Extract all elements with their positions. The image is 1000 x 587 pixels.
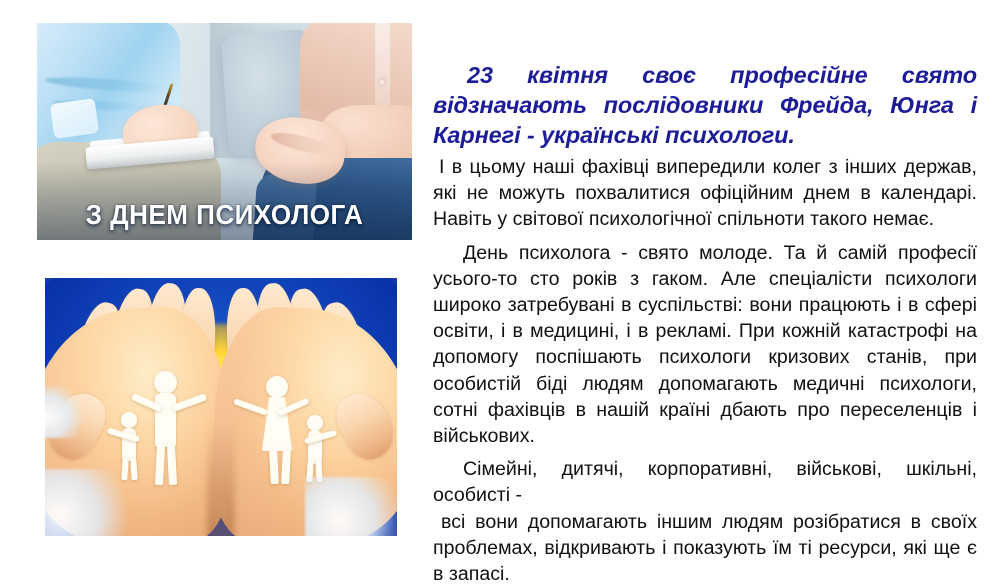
palms-center-shadow [207,422,235,536]
article-paragraph-1: І в цьому наші фахівці випередили колег … [425,154,985,233]
paper-father-body [155,393,176,447]
therapy-session-photo: З ДНЕМ ПСИХОЛОГА [37,23,412,240]
article-paragraph-4: всі вони допомагають іншим людям розібра… [425,509,985,587]
poster-page: З ДНЕМ ПСИХОЛОГА [0,0,1000,563]
article-column: 23 квітня своє професійне свято відзнача… [425,0,985,563]
paper-child-left-head [121,412,137,428]
paper-mother-leg [281,449,290,483]
article-paragraph-2: День психолога - свято молоде. Та й самі… [425,240,985,450]
therapist-shirt-cuff [50,98,99,139]
cloud-right [305,477,397,536]
paper-child-right-head [307,415,323,431]
hands-composition [45,278,397,536]
media-column: З ДНЕМ ПСИХОЛОГА [0,0,425,563]
paper-mother-head [266,376,288,398]
article-headline: 23 квітня своє професійне свято відзнача… [425,0,985,150]
cloud-left [45,469,144,536]
article-paragraph-3: Сімейні, дитячі, корпоративні, військові… [425,456,985,508]
hands-holding-paper-family-photo [45,278,397,536]
cloud-upper-left [45,386,87,438]
photo-caption-text: З ДНЕМ ПСИХОЛОГА [50,199,399,231]
